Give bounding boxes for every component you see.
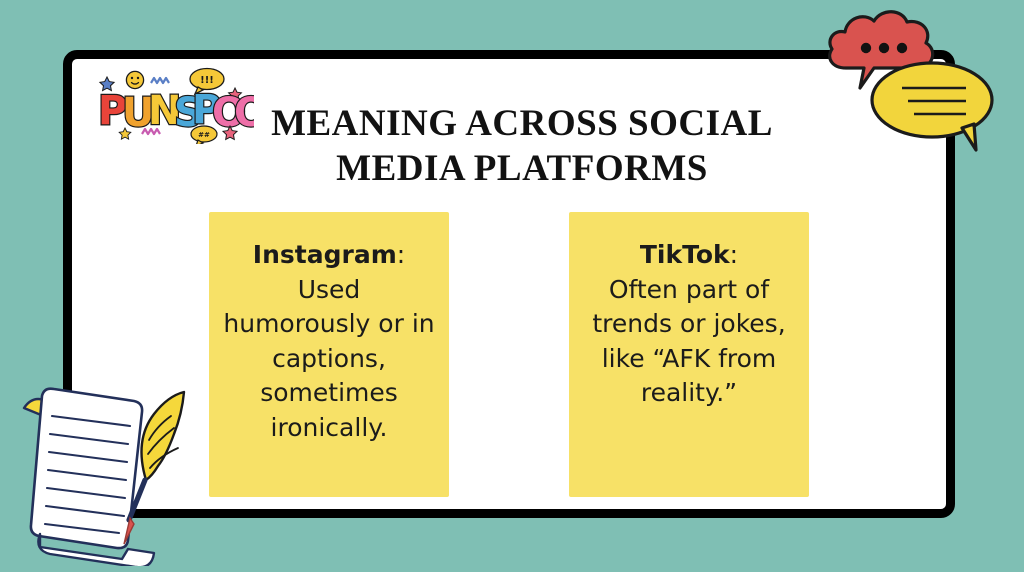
bubble-dot-2 [879, 43, 889, 53]
speech-bubble-small-icon: ## [191, 126, 217, 144]
platform-separator-tiktok: : [730, 240, 738, 269]
page-title-line-1: MEANING ACROSS SOCIAL [242, 101, 802, 146]
logo-artwork: !!! P U N S P O O [94, 64, 254, 144]
speech-bubbles-decoration [816, 2, 1016, 182]
quill-feather [142, 392, 185, 480]
bubble-dot-3 [897, 43, 907, 53]
speech-bubble-lines-icon [872, 63, 992, 150]
bubble-dot-1 [861, 43, 871, 53]
platform-card-tiktok: TikTok: Often part of trends or jokes, l… [569, 212, 809, 497]
scroll-quill-artwork [14, 356, 214, 566]
scroll-quill-decoration [14, 356, 214, 566]
bubble-small-text: ## [198, 131, 210, 139]
page-title: MEANING ACROSS SOCIAL MEDIA PLATFORMS [242, 101, 802, 191]
page-title-line-2: MEDIA PLATFORMS [242, 146, 802, 191]
speech-bubbles-artwork [816, 2, 1016, 182]
slide-canvas: !!! P U N S P O O [0, 0, 1024, 572]
punspoo-logo: !!! P U N S P O O [94, 64, 254, 144]
smiley-face-icon [126, 71, 143, 88]
squiggle-blue-icon [151, 78, 169, 83]
platform-name-tiktok: TikTok [640, 240, 730, 269]
logo-letter-o2: O [234, 90, 254, 136]
bubble-exclaim-text: !!! [200, 75, 214, 86]
platform-separator-instagram: : [397, 240, 405, 269]
platform-name-instagram: Instagram [253, 240, 397, 269]
platform-description-instagram: Used humorously or in captions, sometime… [221, 273, 437, 446]
platform-card-instagram: Instagram: Used humorously or in caption… [209, 212, 449, 497]
platform-description-tiktok: Often part of trends or jokes, like “AFK… [581, 273, 797, 411]
